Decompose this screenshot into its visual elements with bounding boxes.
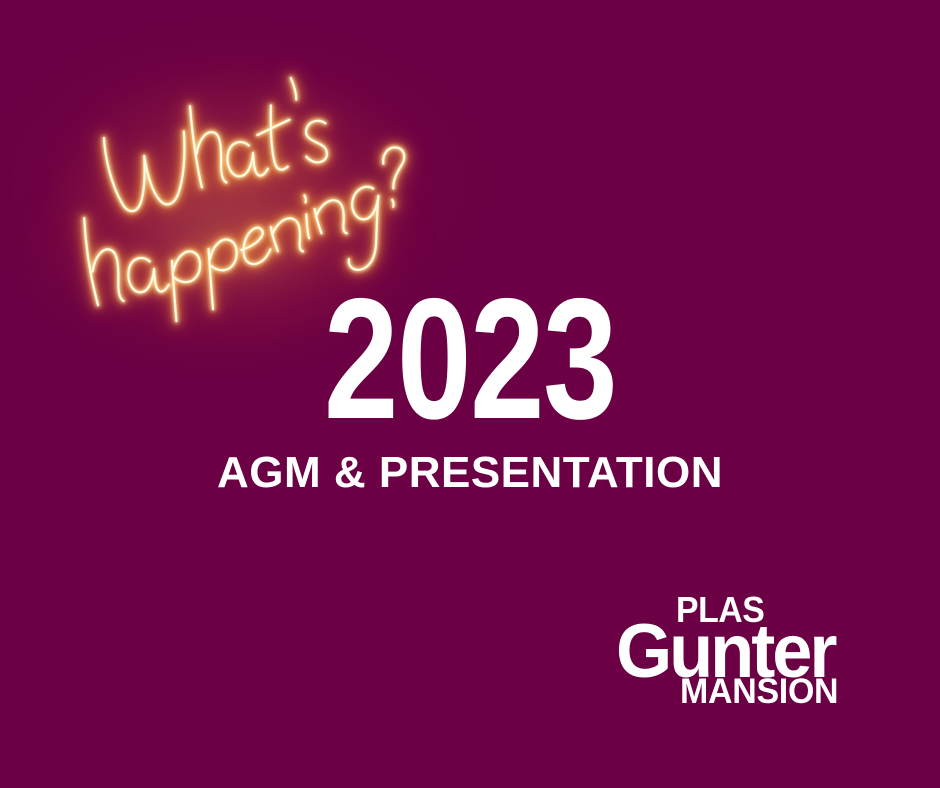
event-year: 2023: [103, 284, 836, 434]
event-poster: What's happening?: [0, 0, 940, 788]
logo-line-mansion: MANSION: [680, 674, 838, 709]
event-subtitle: AGM & PRESENTATION: [0, 447, 940, 499]
plas-gunter-mansion-logo: PLAS Gunter MANSION: [608, 592, 880, 712]
